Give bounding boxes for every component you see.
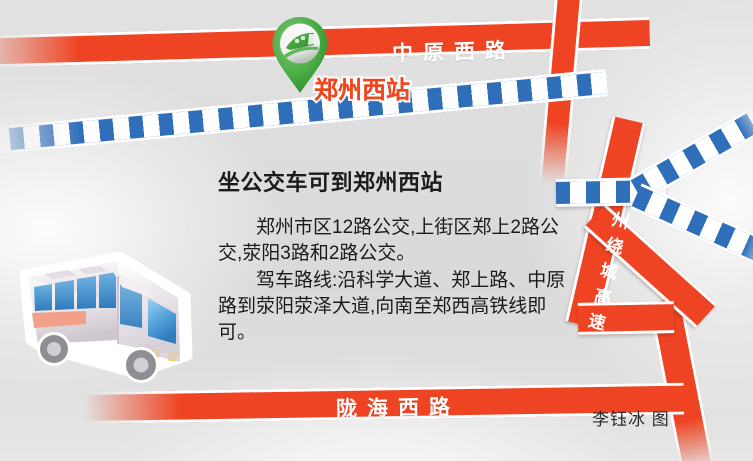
info-paragraph-driving: 驾车路线:沿科学大道、郑上路、中原路到荥阳荥泽大道,向南至郑西高铁线即可。: [218, 268, 576, 346]
railway-ties: [631, 105, 753, 199]
info-paragraph-bus: 郑州市区12路公交,上街区郑上2路公交,荥阳3路和2路公交。: [218, 215, 576, 267]
bus-illustration: [8, 252, 208, 387]
illustration-credit: 李钰冰 图: [592, 405, 670, 430]
station-name-label: 郑州西站: [314, 70, 410, 105]
road-ring-junction-arm: [578, 301, 675, 335]
station-marker[interactable]: 郑州西站 郑州西站: [268, 14, 332, 96]
bus-icon: [8, 252, 208, 387]
infographic-map: 中原西路 郑州绕城高速 陇海西路: [0, 0, 753, 461]
page-title: 坐公交车可到郑州西站: [218, 165, 576, 197]
info-panel: 坐公交车可到郑州西站 郑州市区12路公交,上街区郑上2路公交,荥阳3路和2路公交…: [218, 165, 576, 347]
